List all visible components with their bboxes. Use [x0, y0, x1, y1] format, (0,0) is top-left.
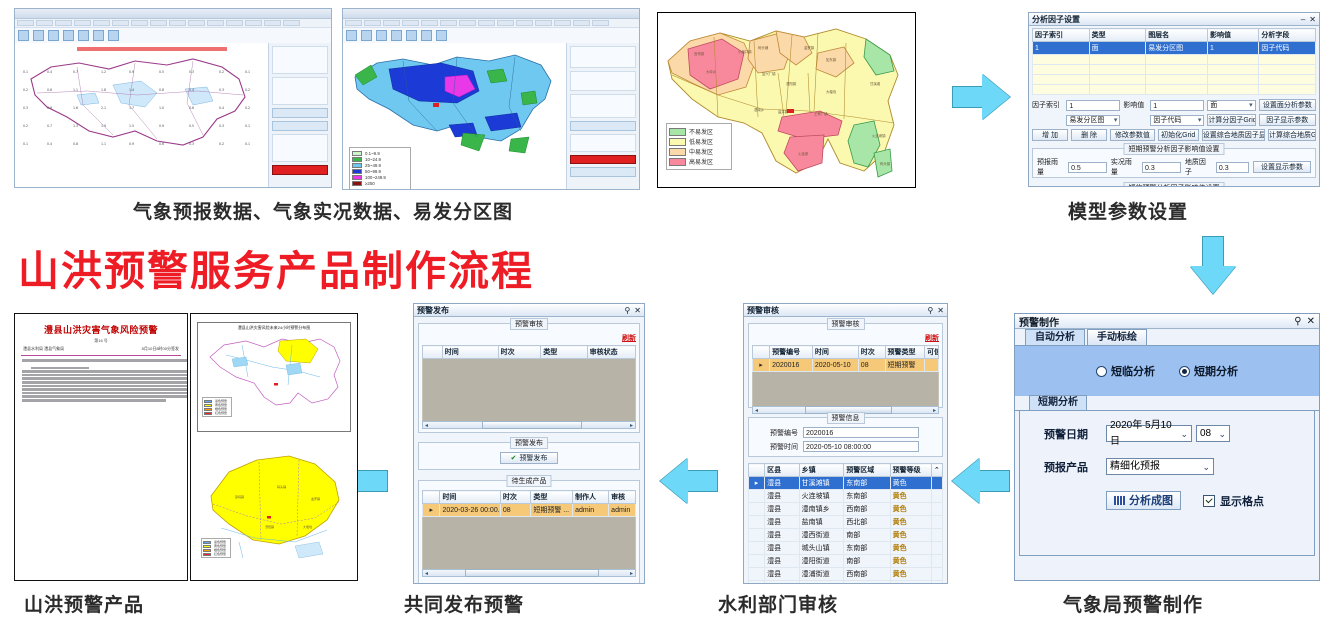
table-row[interactable]: 1 面 易发分区图 1 因子代码: [1033, 42, 1316, 55]
legend-swatch-high: [669, 158, 686, 166]
legend-label: 红色预警: [215, 411, 227, 415]
tool-icon[interactable]: [63, 30, 74, 41]
chevron-down-icon: ⌄: [1214, 426, 1226, 442]
audit-titlebar[interactable]: 预警审核 ⚲ ✕: [744, 304, 947, 317]
dock-button[interactable]: [272, 121, 328, 131]
delete-button[interactable]: 删 除: [1071, 129, 1107, 141]
factor-table[interactable]: 因子索引 类型 图层名 影响值 分析字段 1 面 易发分区图 1 因子代码: [1032, 28, 1316, 95]
svg-text:0.4: 0.4: [47, 142, 52, 146]
svg-text:大坪乡: 大坪乡: [706, 69, 717, 74]
analyze-plot-button[interactable]: 分析成图: [1106, 491, 1181, 510]
scroll-right-icon[interactable]: ▸: [931, 407, 938, 414]
caption-joint-publish: 共同发布预警: [404, 590, 524, 617]
audit-table[interactable]: 预警编号 时间 时次 预警类型 可信度 ▸ 2020016 2020-05-10…: [752, 345, 939, 372]
menu-item[interactable]: [17, 20, 34, 26]
arrow-left-to-publish: [660, 458, 718, 504]
arrow-right-to-parameters: [952, 74, 1010, 120]
warning-detail-table[interactable]: 区县 乡镇 预警区域 预警等级 ⌃ ▸ 澧县 甘溪滩镇 东南部 黄色 澧县火连坡…: [748, 463, 943, 584]
menu-item[interactable]: [364, 20, 381, 26]
forecast-product-select[interactable]: 精细化预报 ⌄: [1106, 458, 1214, 475]
row-marker-icon: ▸: [749, 477, 765, 490]
menu-item[interactable]: [112, 20, 129, 26]
actual-rain-label: 实况雨量: [1111, 157, 1138, 177]
table-row[interactable]: [1033, 75, 1316, 85]
tool-icon[interactable]: [18, 30, 29, 41]
arrow-down-to-warning-make: [1190, 236, 1236, 294]
menu-item[interactable]: [402, 20, 419, 26]
publish-table-empty-area: [422, 359, 636, 421]
arrow-shaft: [1202, 236, 1224, 269]
cell-county: 澧县: [765, 542, 800, 555]
svg-text:0.5: 0.5: [159, 70, 164, 74]
svg-text:小渡口镇: 小渡口镇: [738, 49, 752, 54]
tool-icon[interactable]: [406, 30, 417, 41]
close-icon[interactable]: ✕: [937, 306, 944, 315]
svg-text:码头铺: 码头铺: [758, 45, 769, 50]
warning-hour-picker[interactable]: 08 ⌄: [1196, 425, 1230, 442]
cell-conf: [925, 359, 939, 372]
warning-date-picker[interactable]: 2020年 5月10日 ⌄: [1106, 425, 1192, 442]
menu-item[interactable]: [188, 20, 205, 26]
cell-town: 澧阳街道: [799, 555, 844, 568]
svg-text:码头镇: 码头镇: [880, 161, 891, 166]
scroll-right-icon[interactable]: ▸: [628, 570, 635, 577]
cell-hour: 08: [858, 359, 885, 372]
pin-icon[interactable]: ⚲: [927, 306, 933, 315]
cell-hour: 08: [500, 504, 531, 517]
analysis-mode-tabs[interactable]: 自动分析 手动标绘: [1015, 329, 1319, 346]
tool-icon[interactable]: [421, 30, 432, 41]
calc-factor-grid-button[interactable]: 计算分因子Grid: [1207, 114, 1255, 126]
gis-toolbar[interactable]: [343, 28, 639, 44]
row-marker: [749, 555, 765, 568]
svg-text:0.9: 0.9: [129, 142, 134, 146]
legend-swatch-orange: [204, 408, 212, 411]
menu-item[interactable]: [497, 20, 514, 26]
product-value: 精细化预报: [1110, 459, 1160, 475]
gis-menubar[interactable]: [343, 19, 639, 28]
table-row[interactable]: 澧县澧西街道南部黄色: [749, 529, 943, 542]
warning-make-titlebar[interactable]: 预警制作 ⚲ ✕: [1015, 314, 1319, 329]
legend-swatch-mild: [669, 138, 686, 146]
rainfall-gis-window[interactable]: 0.1~9.9 10~24.9 25~49.9 50~99.9 100~249.…: [342, 8, 640, 190]
table-row[interactable]: [1033, 55, 1316, 65]
pending-table-empty-area: [422, 517, 636, 569]
col-header: 影响值: [1207, 29, 1258, 42]
radio-button-selected[interactable]: [1179, 366, 1190, 377]
col-header: 图层名: [1146, 29, 1208, 42]
table-row[interactable]: 澧县王家厂镇东南部黄色⌄: [749, 581, 943, 585]
factor-window-titlebar[interactable]: 分析因子设置 – ✕: [1029, 13, 1319, 26]
col-header: 预警类型: [885, 346, 925, 359]
menu-item[interactable]: [383, 20, 400, 26]
col-header: 因子索引: [1033, 29, 1090, 42]
table-row[interactable]: ▸ 2020016 2020-05-10 08 短期预警: [753, 359, 939, 372]
legend-label: 中易发区: [689, 147, 713, 156]
doc-body-line: [31, 367, 89, 370]
factor-weight-input[interactable]: 1: [1150, 100, 1204, 111]
doc-divider: [21, 355, 181, 356]
legend-swatch-red: [204, 412, 212, 415]
arrow-shaft: [952, 86, 985, 108]
cell-empty: [1207, 85, 1258, 95]
svg-text:0.2: 0.2: [245, 106, 250, 110]
geo-factor-label: 地质因子: [1185, 157, 1212, 177]
audit-list-group: 预警审核 刷新 预警编号 时间 时次 预警类型 可信度 ▸ 2020016 20…: [748, 323, 943, 408]
cell-empty: [1259, 65, 1316, 75]
table-row[interactable]: 澧县盐南镇西北部黄色: [749, 516, 943, 529]
gis-map-canvas[interactable]: 0.10.40.71.20.90.50.30.20.1 0.20.61.11.8…: [15, 43, 331, 187]
table-row[interactable]: 澧县澧浦街道西南部黄色: [749, 568, 943, 581]
cell-county: 澧县: [765, 477, 800, 490]
cell-county: 澧县: [765, 490, 800, 503]
menu-item[interactable]: [169, 20, 186, 26]
menu-item[interactable]: [150, 20, 167, 26]
warning-product-maps: 澧县山洪灾害风险未来24小时预警分布图 蓝色预警 黄色预警 橙色预警 红色预警: [190, 313, 358, 581]
dock-button[interactable]: [272, 108, 328, 118]
caption-model-params: 模型参数设置: [1068, 197, 1188, 224]
legend-swatch-yellow: [204, 404, 212, 407]
table-row[interactable]: 澧县澧阳街道南部黄色: [749, 555, 943, 568]
dock-group[interactable]: [570, 46, 636, 68]
col-header: 制作人: [573, 491, 609, 504]
doc-date: 5月10日8时00分签发: [142, 346, 179, 352]
close-icon[interactable]: ✕: [634, 306, 641, 315]
arrow-head: [982, 74, 1010, 120]
tab-auto-analysis[interactable]: 自动分析: [1025, 329, 1085, 345]
pin-icon[interactable]: ⚲: [1294, 316, 1301, 327]
cell-pad: [931, 542, 942, 555]
svg-text:0.4: 0.4: [189, 88, 194, 92]
svg-text:0.9: 0.9: [159, 124, 164, 128]
svg-text:1.3: 1.3: [73, 124, 78, 128]
analyze-button-label: 分析成图: [1129, 492, 1173, 510]
tool-icon[interactable]: [361, 30, 372, 41]
arrow-left-to-audit: [952, 458, 1010, 504]
dock-group[interactable]: [272, 77, 328, 105]
menu-item[interactable]: [74, 20, 91, 26]
menu-item[interactable]: [440, 20, 457, 26]
cell-pad: [931, 503, 942, 516]
show-grid-points-checkbox[interactable]: 显示格点: [1203, 493, 1264, 509]
menu-item[interactable]: [283, 20, 300, 26]
publish-audit-table[interactable]: 时间 时次 类型 审核状态: [422, 345, 636, 359]
row-marker: [749, 581, 765, 585]
doc-body-line: [22, 395, 187, 398]
doc-body-line: [22, 392, 187, 395]
tool-icon[interactable]: [33, 30, 44, 41]
svg-text:码头铺: 码头铺: [277, 484, 286, 489]
tab-manual-draw[interactable]: 手动标绘: [1087, 329, 1147, 345]
svg-text:0.9: 0.9: [129, 70, 134, 74]
set-comprehensive-display-button[interactable]: 设置综合地质因子显示参数: [1202, 129, 1265, 141]
svg-text:0.3: 0.3: [189, 70, 194, 74]
factor-layer-combo[interactable]: 易发分区图▾: [1066, 115, 1120, 126]
radio-label: 短临分析: [1111, 363, 1155, 379]
legend-label: 红色预警: [214, 552, 226, 556]
chevron-down-icon: ▾: [1247, 100, 1253, 111]
legend-swatch: [352, 181, 362, 186]
legend-swatch: [352, 163, 362, 168]
table-row[interactable]: 澧县城头山镇东南部黄色: [749, 542, 943, 555]
tool-icon[interactable]: [376, 30, 387, 41]
factor-index-input[interactable]: 1: [1066, 100, 1120, 111]
modify-param-button[interactable]: 修改参数值: [1110, 129, 1155, 141]
tool-icon[interactable]: [93, 30, 104, 41]
window-title: 分析因子设置: [1032, 14, 1297, 25]
table-row[interactable]: ▸ 澧县 甘溪滩镇 东南部 黄色: [749, 477, 943, 490]
cell-area: 西南部: [844, 568, 890, 581]
svg-text:0.7: 0.7: [73, 70, 78, 74]
tool-icon[interactable]: [78, 30, 89, 41]
scroll-thumb[interactable]: [465, 569, 598, 577]
tool-icon[interactable]: [346, 30, 357, 41]
scroll-right-icon[interactable]: ▸: [628, 422, 635, 429]
arrow-shaft: [685, 470, 718, 492]
legend-label: 不易发区: [689, 127, 713, 136]
factor-display-param-button[interactable]: 因子显示参数: [1259, 114, 1316, 126]
dock-group[interactable]: [272, 46, 328, 74]
svg-text:王家厂镇: 王家厂镇: [814, 111, 828, 116]
svg-text:1.6: 1.6: [73, 106, 78, 110]
scroll-down-icon[interactable]: ⌄: [931, 581, 942, 585]
analysis-type-radio-group[interactable]: 短临分析 短期分析: [1015, 346, 1319, 396]
combo-value: 易发分区图: [1069, 115, 1104, 126]
gis-right-dock[interactable]: [566, 43, 639, 189]
dock-button[interactable]: [570, 167, 636, 177]
gis-toolbar[interactable]: [15, 28, 331, 44]
warning-time-label: 预警时间: [752, 442, 798, 452]
menu-item[interactable]: [478, 20, 495, 26]
menu-item[interactable]: [226, 20, 243, 26]
col-header: 时次: [500, 491, 531, 504]
dock-group[interactable]: [570, 94, 636, 118]
cell-town: 城头山镇: [799, 542, 844, 555]
cell-county: 澧县: [765, 503, 800, 516]
menu-item[interactable]: [554, 20, 571, 26]
warning-publish-panel[interactable]: 预警发布 ⚲ ✕ 预警审核 刷新 时间 时次 类型 审核状态 ◂ ▸: [413, 303, 645, 584]
actual-rain-input[interactable]: 0.3: [1142, 162, 1181, 173]
warning-info-group: 预警信息 预警编号 2020016 预警时间 2020-05-10 08:00:…: [748, 417, 943, 457]
group-label: 预警信息: [827, 412, 865, 424]
col-header: 时次: [858, 346, 885, 359]
row-marker-header: [423, 491, 440, 504]
warning-time-input[interactable]: 2020-05-10 08:00:00: [803, 441, 919, 452]
svg-text:0.2: 0.2: [219, 70, 224, 74]
set-param-button[interactable]: 设置面分析参数: [1259, 99, 1316, 111]
minimize-icon[interactable]: –: [1301, 15, 1305, 24]
tool-icon[interactable]: [48, 30, 59, 41]
table-header-row: 区县 乡镇 预警区域 预警等级 ⌃: [749, 464, 943, 477]
refresh-link[interactable]: 刷新: [622, 335, 636, 342]
tool-icon[interactable]: [391, 30, 402, 41]
dock-alert-button[interactable]: [272, 165, 328, 175]
menu-item[interactable]: [516, 20, 533, 26]
svg-text:澧阳镇: 澧阳镇: [786, 81, 797, 86]
dock-button[interactable]: [570, 121, 636, 131]
pending-product-table[interactable]: 时间 时次 类型 制作人 审核 ▸ 2020-03-26 00:00... 08…: [422, 490, 636, 517]
chevron-down-icon: ▾: [1112, 115, 1118, 126]
table-row[interactable]: [1033, 85, 1316, 95]
cell-empty: [1033, 85, 1090, 95]
pin-icon[interactable]: ⚲: [624, 306, 630, 315]
publish-audit-group: 预警审核 刷新 时间 时次 类型 审核状态 ◂ ▸: [418, 323, 640, 433]
init-grid-button[interactable]: 初始化Grid: [1158, 129, 1199, 141]
tab-short-term-analysis[interactable]: 短期分析: [1029, 395, 1087, 410]
col-header: 类型: [541, 346, 587, 359]
cell-area: 南部: [844, 555, 890, 568]
warning-no-input[interactable]: 2020016: [803, 427, 919, 438]
publish-titlebar[interactable]: 预警发布 ⚲ ✕: [414, 304, 644, 317]
row-marker-header: [753, 346, 770, 359]
col-header: 分析字段: [1259, 29, 1316, 42]
svg-text:金罗镇: 金罗镇: [311, 496, 320, 501]
svg-text:1.1: 1.1: [73, 88, 78, 92]
svg-text:0.4: 0.4: [219, 106, 224, 110]
calc-comprehensive-grid-button[interactable]: 计算综合地质Grid: [1268, 129, 1316, 141]
menu-item[interactable]: [36, 20, 53, 26]
radio-short-imminent[interactable]: 短临分析: [1096, 363, 1155, 379]
cell-empty: [1259, 75, 1316, 85]
caption-product: 山洪预警产品: [24, 590, 144, 617]
cell-index: 1: [1033, 42, 1090, 55]
arrow-shaft: [355, 470, 388, 492]
legend-swatch: [352, 151, 362, 156]
short-term-factor-group: 短期预警分析因子影响值设置 预报雨量 0.5 实况雨量 0.3 地质因子 0.3…: [1032, 148, 1316, 178]
scroll-left-icon[interactable]: ◂: [423, 422, 430, 429]
legend-label: 高易发区: [689, 157, 713, 166]
row-marker-header: [423, 346, 443, 359]
tool-icon[interactable]: [108, 30, 119, 41]
factor-weight-label: 影响值: [1123, 100, 1147, 110]
arrow-head: [660, 458, 688, 504]
radio-button[interactable]: [1096, 366, 1107, 377]
menu-item[interactable]: [245, 20, 262, 26]
group-label: 短临预警分析因子影响值设置: [1124, 182, 1225, 187]
gis-menubar[interactable]: [15, 19, 331, 28]
menu-item[interactable]: [345, 20, 362, 26]
forecast-rain-input[interactable]: 0.5: [1068, 162, 1107, 173]
table-row[interactable]: 澧县澧南镇乡西南部黄色: [749, 503, 943, 516]
dock-group[interactable]: [570, 134, 636, 152]
warning-audit-panel[interactable]: 预警审核 ⚲ ✕ 预警审核 刷新 预警编号 时间 时次 预警类型 可信度 ▸ 2…: [743, 303, 948, 584]
chevron-down-icon: ▾: [1196, 115, 1202, 126]
cell-empty: [1146, 85, 1208, 95]
close-icon[interactable]: ✕: [1309, 15, 1316, 24]
forecast-gis-window[interactable]: 0.10.40.71.20.90.50.30.20.1 0.20.61.11.8…: [14, 8, 332, 188]
dock-alert-button[interactable]: [570, 155, 636, 164]
dock-group[interactable]: [570, 71, 636, 91]
cell-level: 黄色: [890, 568, 931, 581]
panel-title: 预警审核: [747, 305, 923, 316]
publish-warning-button[interactable]: ✔ 预警发布: [500, 452, 558, 464]
row-marker: [749, 568, 765, 581]
row-marker-icon: ▸: [753, 359, 770, 372]
cell-level: 黄色: [890, 503, 931, 516]
close-icon[interactable]: ✕: [1307, 316, 1315, 327]
table-header-row: 时间 时次 类型 制作人 审核: [423, 491, 636, 504]
scroll-left-icon[interactable]: ◂: [423, 570, 430, 577]
arrow-head: [1190, 266, 1236, 294]
svg-text:0.6: 0.6: [47, 88, 52, 92]
group-label: 预警审核: [510, 318, 548, 330]
table-row[interactable]: [1033, 65, 1316, 75]
warning-date-row: 预警日期 2020年 5月10日 ⌄ 08 ⌄: [1044, 425, 1314, 442]
add-button[interactable]: 增 加: [1032, 129, 1068, 141]
legend-label: 低易发区: [689, 137, 713, 146]
chevron-down-icon: ⌄: [1176, 426, 1188, 442]
menu-item[interactable]: [459, 20, 476, 26]
doc-body-line: [22, 377, 187, 380]
cell-level: 黄色: [890, 581, 931, 585]
menu-item[interactable]: [93, 20, 110, 26]
product-map-1-legend: 蓝色预警 黄色预警 橙色预警 红色预警: [202, 397, 232, 417]
menu-item[interactable]: [592, 20, 609, 26]
col-header: 乡镇: [799, 464, 844, 477]
forecast-rain-label: 预报雨量: [1037, 157, 1064, 177]
radio-short-term[interactable]: 短期分析: [1179, 363, 1238, 379]
check-icon: ✔: [511, 453, 517, 464]
scroll-up-icon[interactable]: ⌃: [931, 464, 942, 477]
col-header: 类型: [531, 491, 573, 504]
svg-text:澧阳镇: 澧阳镇: [265, 524, 274, 529]
geo-factor-input[interactable]: 0.3: [1216, 162, 1249, 173]
menu-item[interactable]: [535, 20, 552, 26]
warning-make-panel[interactable]: 预警制作 ⚲ ✕ 自动分析 手动标绘 短临分析 短期分析 短期分析 预警日期 2…: [1014, 313, 1320, 581]
checkbox-box[interactable]: [1203, 495, 1215, 507]
cell-empty: [1207, 75, 1258, 85]
product-map-1-title: 澧县山洪灾害风险未来24小时预警分布图: [198, 325, 350, 331]
svg-text:1.7: 1.7: [129, 106, 134, 110]
menu-item[interactable]: [207, 20, 224, 26]
menu-item[interactable]: [131, 20, 148, 26]
factor-field-combo[interactable]: 因子代码▾: [1150, 115, 1204, 126]
menu-item[interactable]: [573, 20, 590, 26]
tool-icon[interactable]: [436, 30, 447, 41]
gis-map-canvas[interactable]: 0.1~9.9 10~24.9 25~49.9 50~99.9 100~249.…: [343, 43, 639, 189]
legend-swatch-blue: [203, 541, 211, 544]
cell-empty: [1033, 55, 1090, 65]
publish-hscrollbar[interactable]: ◂ ▸: [422, 421, 636, 429]
pending-hscrollbar[interactable]: ◂ ▸: [422, 569, 636, 577]
doc-subline: 第16 号: [15, 338, 187, 344]
svg-text:1.2: 1.2: [101, 70, 106, 74]
factor-type-combo[interactable]: 面▾: [1207, 100, 1255, 111]
menu-item[interactable]: [264, 20, 281, 26]
doc-body-line: [22, 374, 187, 377]
dock-group[interactable]: [272, 134, 328, 162]
hour-value: 08: [1200, 426, 1211, 442]
legend-swatch-blue: [204, 400, 212, 403]
refresh-link[interactable]: 刷新: [925, 335, 939, 342]
factor-settings-window[interactable]: 分析因子设置 – ✕ 因子索引 类型 图层名 影响值 分析字段 1 面 易发分区…: [1028, 12, 1320, 187]
menu-item[interactable]: [55, 20, 72, 26]
scroll-thumb[interactable]: [482, 421, 582, 429]
inner-tabs[interactable]: 短期分析: [1015, 396, 1319, 411]
menu-item[interactable]: [421, 20, 438, 26]
doc-body-line: [22, 399, 166, 402]
cell-town: 甘溪滩镇: [799, 477, 844, 490]
audit-table-empty-area: [752, 372, 939, 406]
table-row[interactable]: 澧县火连坡镇东南部黄色: [749, 490, 943, 503]
doc-body-line: [22, 370, 187, 373]
scroll-left-icon[interactable]: ◂: [753, 407, 760, 414]
table-row[interactable]: ▸ 2020-03-26 00:00... 08 短期预警 ... admin …: [423, 504, 636, 517]
svg-text:0.9: 0.9: [47, 106, 52, 110]
gis-window-titlebar: [15, 9, 331, 19]
set-display-param-button[interactable]: 设置显示参数: [1253, 161, 1311, 173]
gis-right-dock[interactable]: [268, 43, 331, 187]
